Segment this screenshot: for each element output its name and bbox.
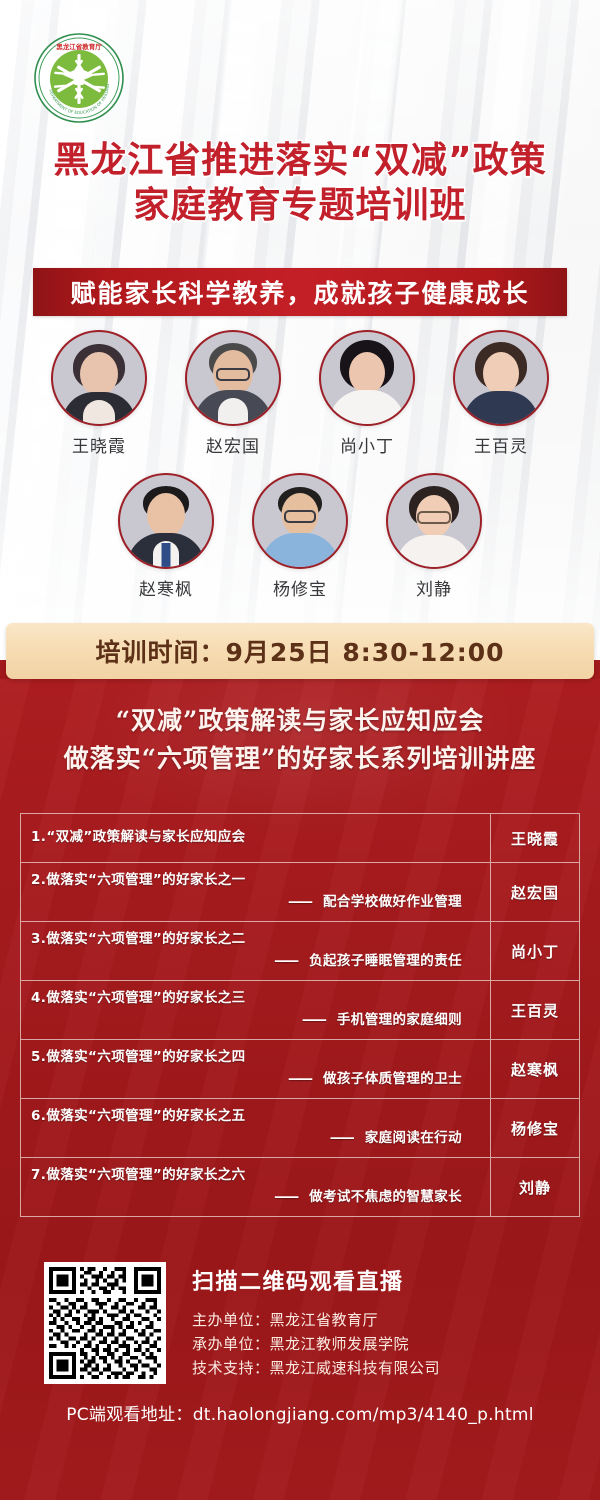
schedule-table: 1.“双减”政策解读与家长应知应会 王晓霞 2.做落实“六项管理”的好家长之一 … <box>20 813 580 1217</box>
topic-subtitle: ——手机管理的家庭细则 <box>31 1011 480 1030</box>
speaker-card: 王晓霞 <box>51 330 147 457</box>
speaker-card: 赵寒枫 <box>118 473 214 600</box>
topic-cell: 6.做落实“六项管理”的好家长之五 ——家庭阅读在行动 <box>21 1099 491 1157</box>
table-row: 5.做落实“六项管理”的好家长之四 ——做孩子体质管理的卫士 赵寒枫 <box>21 1040 579 1099</box>
speaker-cell: 刘静 <box>491 1158 579 1216</box>
topic-subtitle: ——做考试不焦虑的智慧家长 <box>31 1188 480 1207</box>
topic-title: 2.做落实“六项管理”的好家长之一 <box>31 871 480 890</box>
table-row: 4.做落实“六项管理”的好家长之三 ——手机管理的家庭细则 王百灵 <box>21 981 579 1040</box>
avatar <box>319 330 415 426</box>
provincial-education-department-logo: 黑龙江省教育厅 DEPARTMENT OF EDUCATION OF HEILO… <box>33 32 125 124</box>
topic-subtitle: ——负起孩子睡眠管理的责任 <box>31 952 480 971</box>
topic-cell: 4.做落实“六项管理”的好家长之三 ——手机管理的家庭细则 <box>21 981 491 1039</box>
topic-title: 5.做落实“六项管理”的好家长之四 <box>31 1048 480 1067</box>
avatar <box>51 330 147 426</box>
avatar <box>252 473 348 569</box>
speaker-cell: 王晓霞 <box>491 814 579 862</box>
subtitle-text: 赋能家长科学教养，成就孩子健康成长 <box>70 274 529 310</box>
topic-title: 7.做落实“六项管理”的好家长之六 <box>31 1166 480 1185</box>
topic-title: 1.“双减”政策解读与家长应知应会 <box>31 828 480 847</box>
program-heading: “双减”政策解读与家长应知应会 做落实“六项管理”的好家长系列培训讲座 <box>0 702 600 778</box>
speakers-section: 王晓霞 赵宏国 尚小丁 <box>0 330 600 600</box>
table-row: 2.做落实“六项管理”的好家长之一 ——配合学校做好作业管理 赵宏国 <box>21 863 579 922</box>
speaker-name: 王百灵 <box>453 432 549 457</box>
speaker-card: 尚小丁 <box>319 330 415 457</box>
topic-title: 4.做落实“六项管理”的好家长之三 <box>31 989 480 1008</box>
speaker-cell: 杨修宝 <box>491 1099 579 1157</box>
poster-root: 黑龙江省教育厅 DEPARTMENT OF EDUCATION OF HEILO… <box>0 0 600 1500</box>
program-heading-line-1: “双减”政策解读与家长应知应会 <box>0 702 600 740</box>
topic-subtitle: ——做孩子体质管理的卫士 <box>31 1070 480 1089</box>
speaker-card: 王百灵 <box>453 330 549 457</box>
avatar <box>386 473 482 569</box>
qr-caption: 扫描二维码观看直播 <box>192 1264 440 1296</box>
live-stream-qr-code[interactable] <box>44 1262 166 1384</box>
topic-cell: 3.做落实“六项管理”的好家长之二 ——负起孩子睡眠管理的责任 <box>21 922 491 980</box>
avatar <box>453 330 549 426</box>
table-row: 1.“双减”政策解读与家长应知应会 王晓霞 <box>21 814 579 863</box>
speaker-cell: 赵寒枫 <box>491 1040 579 1098</box>
speaker-cell: 尚小丁 <box>491 922 579 980</box>
title-line-2: 家庭教育专题培训班 <box>0 183 600 228</box>
topic-cell: 5.做落实“六项管理”的好家长之四 ——做孩子体质管理的卫士 <box>21 1040 491 1098</box>
avatar <box>118 473 214 569</box>
speaker-cell: 赵宏国 <box>491 863 579 921</box>
topic-title: 6.做落实“六项管理”的好家长之五 <box>31 1107 480 1126</box>
topic-cell: 7.做落实“六项管理”的好家长之六 ——做考试不焦虑的智慧家长 <box>21 1158 491 1216</box>
training-time-banner: 培训时间：9月25日 8:30-12:00 <box>6 623 594 679</box>
speaker-card: 杨修宝 <box>252 473 348 600</box>
tech-support-line: 技术支持：黑龙江威速科技有限公司 <box>192 1356 440 1380</box>
speaker-name: 赵寒枫 <box>118 575 214 600</box>
qr-code-graphic <box>49 1267 161 1379</box>
pc-watch-address[interactable]: PC端观看地址：dt.haolongjiang.com/mp3/4140_p.h… <box>0 1400 600 1425</box>
topic-subtitle: ——家庭阅读在行动 <box>31 1129 480 1148</box>
program-heading-line-2: 做落实“六项管理”的好家长系列培训讲座 <box>0 740 600 778</box>
table-row: 7.做落实“六项管理”的好家长之六 ——做考试不焦虑的智慧家长 刘静 <box>21 1158 579 1217</box>
subtitle-banner: 赋能家长科学教养，成就孩子健康成长 <box>33 268 567 316</box>
footer-section: 扫描二维码观看直播 主办单位：黑龙江省教育厅 承办单位：黑龙江教师发展学院 技术… <box>0 1262 600 1384</box>
title-line-1: 黑龙江省推进落实“双减”政策 <box>0 138 600 183</box>
table-row: 3.做落实“六项管理”的好家长之二 ——负起孩子睡眠管理的责任 尚小丁 <box>21 922 579 981</box>
speaker-card: 刘静 <box>386 473 482 600</box>
speaker-cell: 王百灵 <box>491 981 579 1039</box>
organizer-line: 主办单位：黑龙江省教育厅 <box>192 1308 440 1332</box>
table-row: 6.做落实“六项管理”的好家长之五 ——家庭阅读在行动 杨修宝 <box>21 1099 579 1158</box>
poster-title: 黑龙江省推进落实“双减”政策 家庭教育专题培训班 <box>0 138 600 228</box>
speaker-name: 杨修宝 <box>252 575 348 600</box>
speaker-name: 尚小丁 <box>319 432 415 457</box>
speaker-row-2: 赵寒枫 杨修宝 刘静 <box>0 473 600 600</box>
avatar <box>185 330 281 426</box>
topic-cell: 2.做落实“六项管理”的好家长之一 ——配合学校做好作业管理 <box>21 863 491 921</box>
speaker-name: 赵宏国 <box>185 432 281 457</box>
host-line: 承办单位：黑龙江教师发展学院 <box>192 1332 440 1356</box>
logo-cn-text: 黑龙江省教育厅 <box>56 42 102 51</box>
speaker-name: 王晓霞 <box>51 432 147 457</box>
training-time-text: 培训时间：9月25日 8:30-12:00 <box>95 633 504 669</box>
speaker-name: 刘静 <box>386 575 482 600</box>
speaker-card: 赵宏国 <box>185 330 281 457</box>
topic-cell: 1.“双减”政策解读与家长应知应会 <box>21 814 491 862</box>
topic-title: 3.做落实“六项管理”的好家长之二 <box>31 930 480 949</box>
speaker-row-1: 王晓霞 赵宏国 尚小丁 <box>0 330 600 457</box>
topic-subtitle: ——配合学校做好作业管理 <box>31 893 480 912</box>
